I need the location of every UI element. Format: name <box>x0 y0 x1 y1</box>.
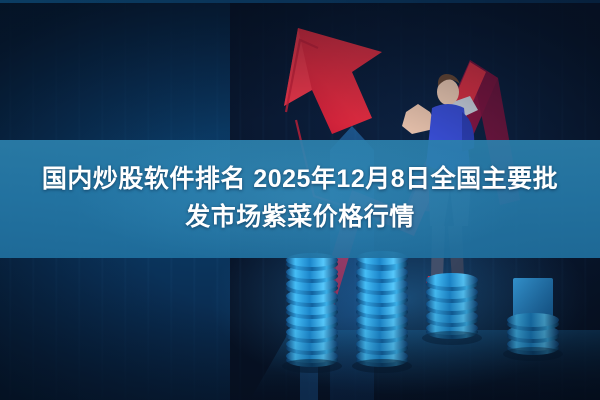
title-line-2: 发市场紫菜价格行情 <box>185 201 415 235</box>
top-edge-line <box>0 0 600 3</box>
banner-image: 国内炒股软件排名 2025年12月8日全国主要批 发市场紫菜价格行情 <box>0 0 600 400</box>
banner-title: 国内炒股软件排名 2025年12月8日全国主要批 发市场紫菜价格行情 <box>0 140 600 258</box>
title-line-1: 国内炒股软件排名 2025年12月8日全国主要批 <box>42 163 558 197</box>
